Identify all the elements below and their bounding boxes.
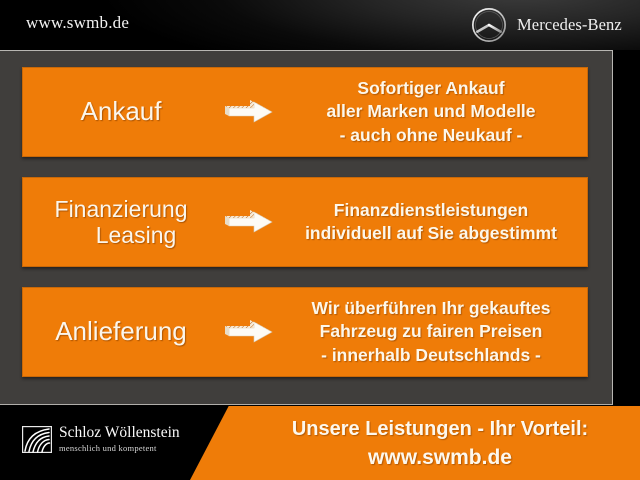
footer-bar: Schloz Wöllenstein menschlich und kompet… [0, 406, 640, 480]
service-label-anlieferung: Anlieferung [23, 317, 219, 347]
mercedes-star-icon [470, 6, 508, 44]
service-line: Sofortiger Ankauf [281, 77, 581, 100]
service-row-finanzierung[interactable]: Finanzierung Leasing [22, 177, 588, 267]
service-description-anlieferung: Wir überführen Ihr gekauftes Fahrzeug zu… [281, 297, 587, 367]
arrow-right-3d-icon [219, 209, 281, 235]
service-line: Finanzdienstleistungen [281, 199, 581, 222]
arrow-right-3d-icon [219, 99, 281, 125]
footer-website-url[interactable]: www.swmb.de [248, 444, 632, 471]
service-label-line2: Leasing [23, 222, 219, 248]
service-label-line1: Finanzierung [23, 196, 219, 222]
dealer-name: Schloz Wöllenstein [59, 425, 180, 441]
services-panel: Ankauf Sofortiger Ankauf [0, 50, 613, 405]
service-line: Wir überführen Ihr gekauftes [281, 297, 581, 320]
service-line: Fahrzeug zu fairen Preisen [281, 320, 581, 343]
arrow-right-3d-icon [219, 319, 281, 345]
service-description-finanzierung: Finanzdienstleistungen individuell auf S… [281, 199, 587, 246]
service-label-ankauf: Ankauf [23, 97, 219, 127]
header-bar: www.swmb.de [0, 0, 640, 50]
mercedes-benz-wordmark: Mercedes-Benz [517, 15, 622, 35]
dealer-logo[interactable]: Schloz Wöllenstein menschlich und kompet… [22, 425, 180, 453]
service-row-ankauf[interactable]: Ankauf Sofortiger Ankauf [22, 67, 588, 157]
service-line: aller Marken und Modelle [281, 100, 581, 123]
service-label-finanzierung: Finanzierung Leasing [23, 196, 219, 248]
service-line: - auch ohne Neukauf - [281, 124, 581, 147]
service-description-ankauf: Sofortiger Ankauf aller Marken und Model… [281, 77, 587, 147]
service-line: individuell auf Sie abgestimmt [281, 222, 581, 245]
dealer-logo-text: Schloz Wöllenstein menschlich und kompet… [59, 425, 180, 453]
service-row-anlieferung[interactable]: Anlieferung Wir überführen Ihr [22, 287, 588, 377]
dealer-tagline: menschlich und kompetent [59, 443, 180, 453]
mercedes-benz-logo: Mercedes-Benz [470, 6, 622, 44]
service-line: - innerhalb Deutschlands - [281, 344, 581, 367]
schloz-woellenstein-mark-icon [22, 426, 52, 453]
slide-root: www.swmb.de [0, 0, 640, 480]
footer-headline: Unsere Leistungen - Ihr Vorteil: [248, 416, 632, 442]
footer-message: Unsere Leistungen - Ihr Vorteil: www.swm… [248, 416, 632, 471]
header-website-url: www.swmb.de [26, 13, 129, 33]
